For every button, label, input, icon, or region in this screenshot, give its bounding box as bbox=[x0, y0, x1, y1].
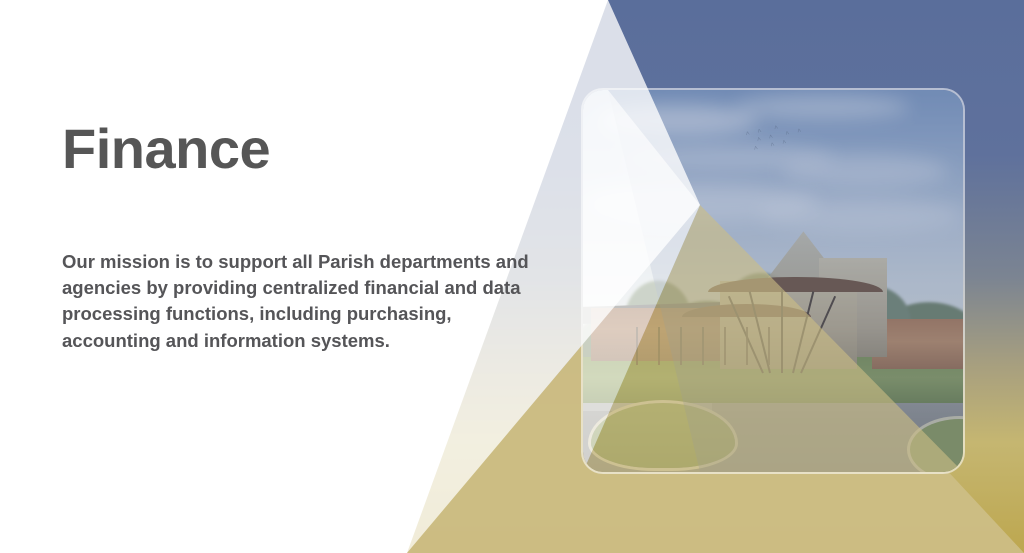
text-column: Finance Our mission is to support all Pa… bbox=[62, 120, 562, 354]
slide-canvas: ˄ ˄ ˄ ˄ ˄ ˄ ˄ ˄ ˄ ˄ bbox=[0, 0, 1024, 553]
mission-statement: Our mission is to support all Parish dep… bbox=[62, 179, 542, 354]
page-title: Finance bbox=[62, 120, 562, 179]
